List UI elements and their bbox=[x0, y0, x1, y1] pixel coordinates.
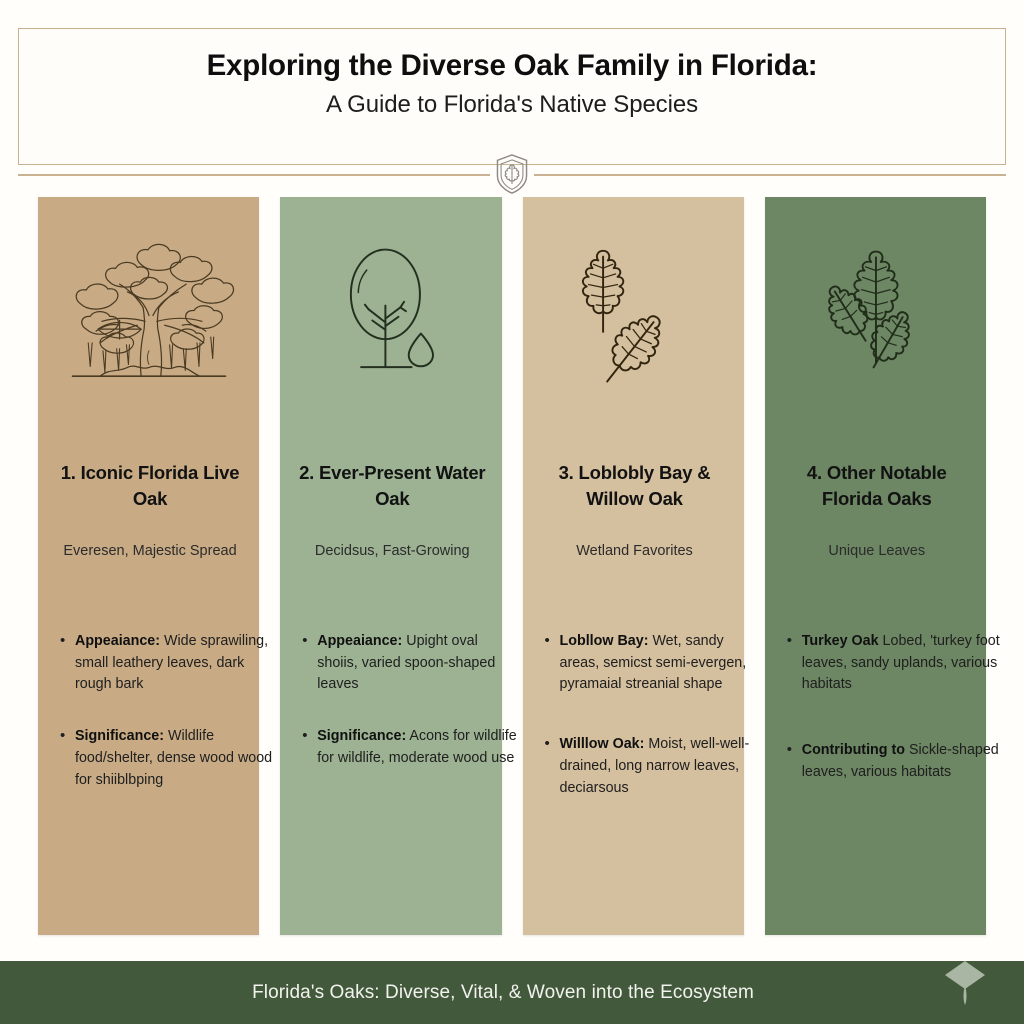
list-item: Significance: Wildlife food/shelter, den… bbox=[60, 726, 275, 791]
card-bullet-list: Appeaiance: Upight oval shoiis, varied s… bbox=[302, 631, 517, 770]
live-oak-tree-icon bbox=[38, 197, 259, 429]
card-bullet-list: Lobllow Bay: Wet, sandy areas, semicst s… bbox=[545, 631, 760, 799]
list-item: Turkey Oak Lobed, 'turkey foot leaves, s… bbox=[787, 631, 1002, 696]
shield-oak-leaf-icon bbox=[490, 152, 534, 196]
page-subtitle: A Guide to Florida's Native Species bbox=[19, 89, 1005, 121]
card-heading: 3. Loblobly Bay & Willow Oak bbox=[535, 460, 735, 513]
header-box: Exploring the Diverse Oak Family in Flor… bbox=[18, 28, 1006, 165]
card-bullet-list: Appeaiance: Wide sprawiling, small leath… bbox=[60, 631, 275, 791]
card-bullet-list: Turkey Oak Lobed, 'turkey foot leaves, s… bbox=[787, 631, 1002, 784]
bullet-label: Turkey Oak bbox=[802, 633, 879, 649]
list-item: Willlow Oak: Moist, well-well-drained, l… bbox=[545, 734, 760, 799]
footer-tagline: Florida's Oaks: Diverse, Vital, & Woven … bbox=[252, 982, 754, 1004]
species-card-loblolly-willow[interactable]: 3. Loblobly Bay & Willow Oak Wetland Fav… bbox=[523, 197, 744, 935]
diamond-leaf-ornament-icon bbox=[942, 961, 988, 1007]
card-heading: 1. Iconic Florida Live Oak bbox=[50, 460, 250, 513]
bullet-label: Significance: bbox=[75, 728, 164, 744]
bullet-label: Willlow Oak: bbox=[560, 736, 645, 752]
infographic-page: Exploring the Diverse Oak Family in Flor… bbox=[0, 0, 1024, 1024]
species-card-other-oaks[interactable]: 4. Other Notable Florida Oaks Unique Lea… bbox=[765, 197, 986, 935]
card-tagline: Decidsus, Fast-Growing bbox=[288, 542, 496, 561]
card-heading: 4. Other Notable Florida Oaks bbox=[777, 460, 977, 513]
list-item: Lobllow Bay: Wet, sandy areas, semicst s… bbox=[545, 631, 760, 696]
list-item: Contributing to Sickle-shaped leaves, va… bbox=[787, 740, 1002, 783]
card-tagline: Everesen, Majestic Spread bbox=[46, 542, 254, 561]
list-item: Appeaiance: Upight oval shoiis, varied s… bbox=[302, 631, 517, 696]
bullet-label: Appeaiance: bbox=[317, 633, 402, 649]
species-card-row: 1. Iconic Florida Live Oak Everesen, Maj… bbox=[38, 197, 986, 935]
card-tagline: Wetland Favorites bbox=[531, 542, 739, 561]
card-tagline: Unique Leaves bbox=[773, 542, 981, 561]
oval-tree-water-drop-icon bbox=[280, 197, 501, 429]
bullet-label: Lobllow Bay: bbox=[560, 633, 649, 649]
two-oak-leaves-icon bbox=[523, 197, 744, 429]
bullet-label: Contributing to bbox=[802, 742, 905, 758]
three-oak-leaves-cluster-icon bbox=[765, 197, 986, 429]
species-card-live-oak[interactable]: 1. Iconic Florida Live Oak Everesen, Maj… bbox=[38, 197, 259, 935]
bullet-label: Appeaiance: bbox=[75, 633, 160, 649]
species-card-water-oak[interactable]: 2. Ever-Present Water Oak Decidsus, Fast… bbox=[280, 197, 501, 935]
title-block: Exploring the Diverse Oak Family in Flor… bbox=[19, 29, 1005, 121]
bullet-label: Significance: bbox=[317, 728, 406, 744]
card-heading: 2. Ever-Present Water Oak bbox=[292, 460, 492, 513]
list-item: Significance: Acons for wildlife for wil… bbox=[302, 726, 517, 769]
list-item: Appeaiance: Wide sprawiling, small leath… bbox=[60, 631, 275, 696]
footer-banner: Florida's Oaks: Diverse, Vital, & Woven … bbox=[0, 961, 1024, 1024]
header-divider bbox=[18, 157, 1006, 193]
divider-line-right bbox=[534, 174, 1006, 176]
page-title: Exploring the Diverse Oak Family in Flor… bbox=[19, 47, 1005, 85]
divider-line-left bbox=[18, 174, 490, 176]
